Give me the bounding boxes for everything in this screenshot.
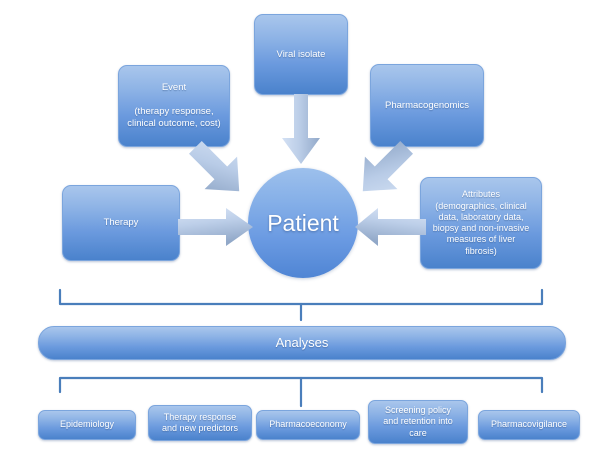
node-screening-policy-label: Screening policy and retention into care	[374, 405, 462, 439]
node-therapy-response[interactable]: Therapy response and new predictors	[148, 405, 252, 441]
arrow-therapy-to-patient	[178, 207, 254, 247]
node-pharmacovigilance[interactable]: Pharmacovigilance	[478, 410, 580, 440]
node-attributes-label: Attributes (demographics, clinical data,…	[426, 189, 536, 257]
node-viral-isolate[interactable]: Viral isolate	[254, 14, 348, 95]
node-analyses-label: Analyses	[44, 335, 560, 351]
bracket-to-outputs	[54, 372, 548, 408]
arrow-pharmacogenomics-to-patient	[348, 139, 420, 201]
node-screening-policy[interactable]: Screening policy and retention into care	[368, 400, 468, 444]
node-attributes[interactable]: Attributes (demographics, clinical data,…	[420, 177, 542, 269]
node-event[interactable]: Event (therapy response, clinical outcom…	[118, 65, 230, 147]
node-therapy-label: Therapy	[68, 217, 174, 229]
node-therapy-response-label: Therapy response and new predictors	[154, 412, 246, 435]
node-therapy[interactable]: Therapy	[62, 185, 180, 261]
arrow-attributes-to-patient	[354, 207, 426, 247]
node-pharmacoeconomy-label: Pharmacoeconomy	[262, 419, 354, 430]
node-epidemiology-label: Epidemiology	[44, 419, 130, 430]
arrow-event-to-patient	[182, 139, 254, 201]
node-pharmacogenomics[interactable]: Pharmacogenomics	[370, 64, 484, 147]
node-patient-label: Patient	[267, 210, 339, 237]
diagram-canvas: Event (therapy response, clinical outcom…	[0, 0, 600, 450]
bracket-to-analyses	[54, 288, 548, 322]
node-event-label: Event (therapy response, clinical outcom…	[124, 82, 224, 130]
node-analyses[interactable]: Analyses	[38, 326, 566, 360]
node-pharmacogenomics-label: Pharmacogenomics	[376, 100, 478, 112]
node-pharmacoeconomy[interactable]: Pharmacoeconomy	[256, 410, 360, 440]
node-viral-isolate-label: Viral isolate	[260, 49, 342, 61]
node-patient[interactable]: Patient	[248, 168, 358, 278]
node-pharmacovigilance-label: Pharmacovigilance	[484, 419, 574, 430]
node-epidemiology[interactable]: Epidemiology	[38, 410, 136, 440]
arrow-viral-isolate-to-patient	[281, 94, 321, 166]
